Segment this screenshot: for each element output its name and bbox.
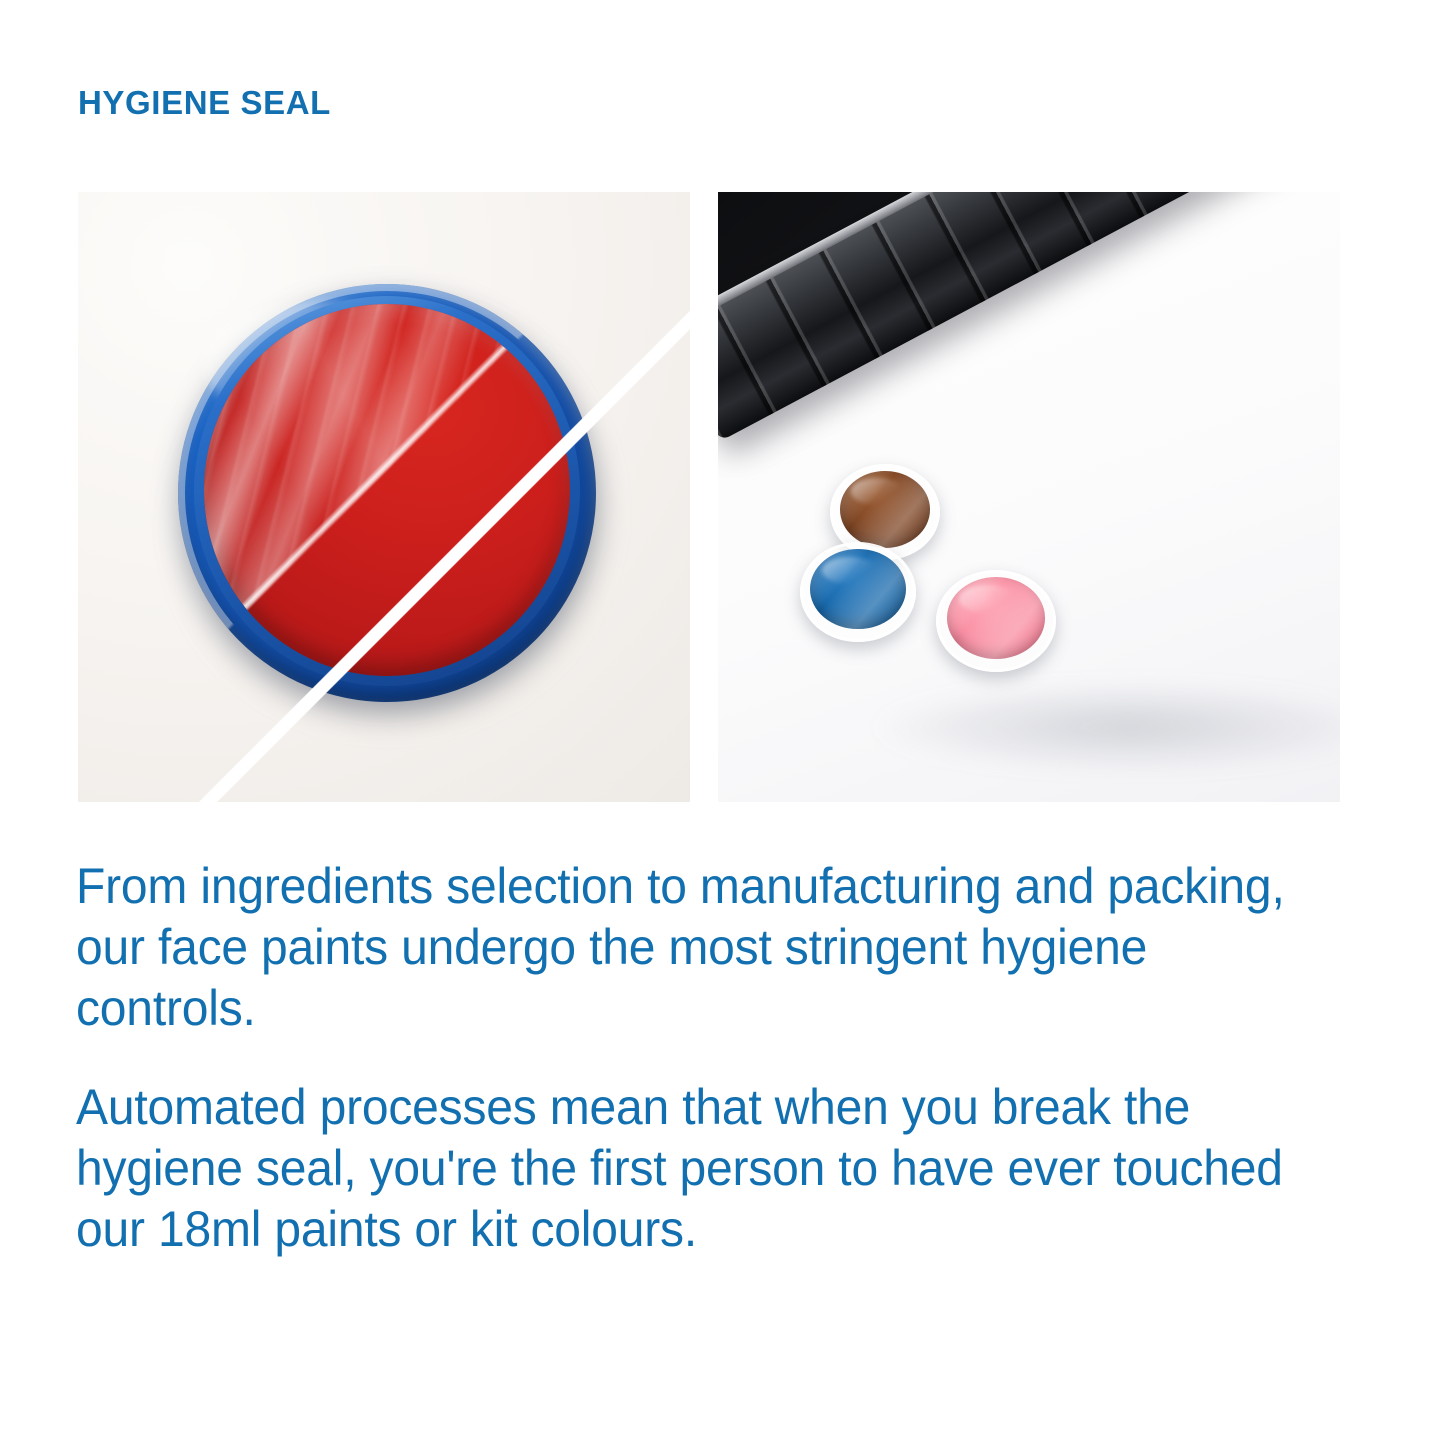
disc-seal-film: [800, 542, 916, 642]
seal-film-edge: [204, 304, 570, 676]
sealed-paint-disc-blue: [800, 542, 916, 642]
sealed-paint-disc-pink: [936, 570, 1056, 672]
pot-scene-background: [78, 192, 690, 802]
page-root: HYGIENE SEAL: [0, 0, 1445, 1445]
image-gallery: [78, 192, 1340, 802]
paint-palette-tray-photo: [718, 192, 1340, 802]
tray-scene-background: [718, 192, 1340, 802]
hygiene-seal-film: [204, 304, 570, 676]
paragraph-2: Automated processes mean that when you b…: [76, 1077, 1305, 1260]
paragraph-1: From ingredients selection to manufactur…: [76, 856, 1305, 1039]
hygiene-seal-comparison-photo: [78, 192, 690, 802]
tray-contact-shadow: [868, 682, 1340, 772]
body-copy: From ingredients selection to manufactur…: [76, 856, 1356, 1260]
disc-seal-film: [936, 570, 1056, 672]
page-title: HYGIENE SEAL: [78, 84, 331, 122]
